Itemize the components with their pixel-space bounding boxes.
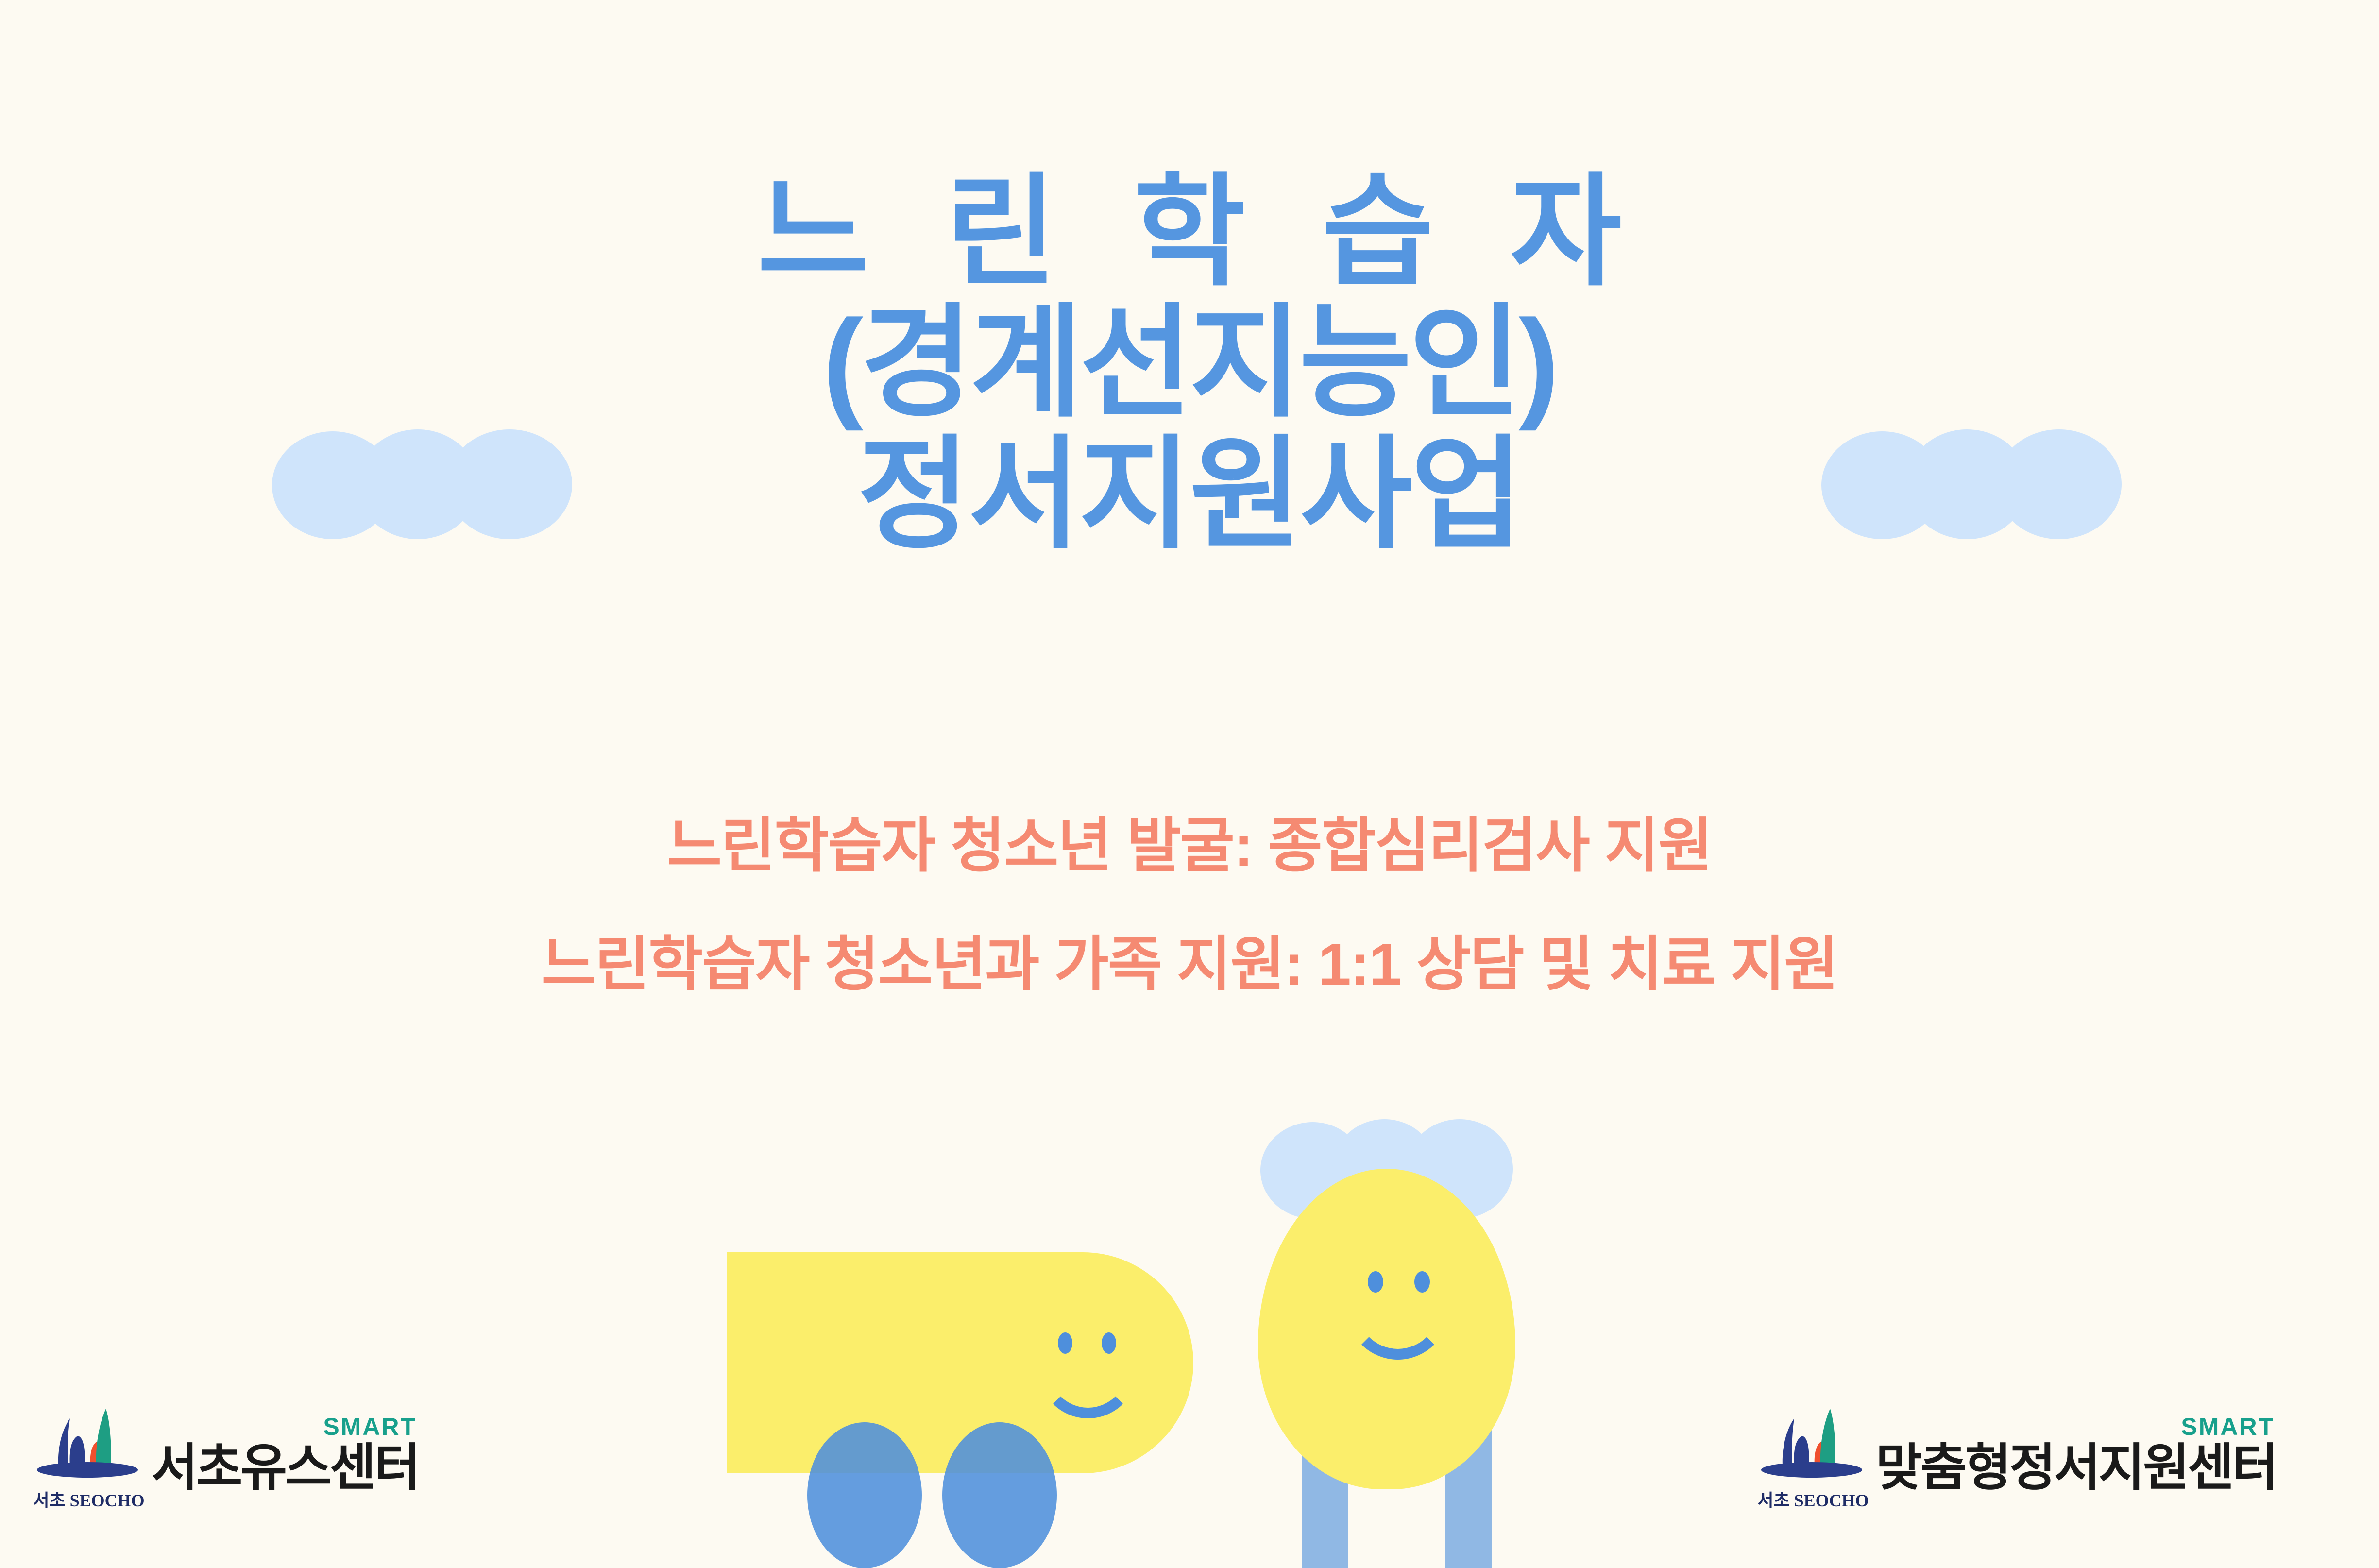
logo-customized-emotional-support-center: 서초 SEOCHO SMART 맞춤형정서지원센터	[1757, 1398, 2277, 1510]
seocho-emblem-icon: 서초 SEOCHO	[33, 1398, 145, 1510]
logo-right-smart-label: SMART	[2181, 1415, 2275, 1439]
logo-right-name: 맞춤형정서지원센터	[1876, 1443, 2277, 1493]
emblem-caption: 서초 SEOCHO	[1757, 1486, 1869, 1512]
emblem-caption: 서초 SEOCHO	[33, 1486, 145, 1512]
logo-seocho-youth-center: 서초 SEOCHO SMART 서초유스센터	[33, 1398, 419, 1510]
block-character-eye-left-icon	[1058, 1332, 1072, 1354]
block-character-foot-right	[942, 1422, 1057, 1568]
seocho-emblem-icon: 서초 SEOCHO	[1757, 1398, 1869, 1510]
logo-left-name: 서초유스센터	[152, 1443, 419, 1493]
logo-right-text: SMART 맞춤형정서지원센터	[1876, 1415, 2277, 1493]
logo-left-text: SMART 서초유스센터	[152, 1415, 419, 1493]
poster-subtitles: 느린학습자 청소년 발굴: 종합심리검사 지원 느린학습자 청소년과 가족 지원…	[0, 816, 2379, 994]
block-character-eye-right-icon	[1102, 1332, 1116, 1354]
block-character-foot-left	[807, 1422, 922, 1568]
headline-line-3: 정서지원사업	[0, 423, 2379, 567]
standing-character-eye-left-icon	[1368, 1271, 1383, 1293]
logo-left-smart-label: SMART	[323, 1415, 417, 1439]
poster-canvas: 느 린 학 습 자 (경계선지능인) 정서지원사업 느린학습자 청소년 발굴: …	[0, 0, 2379, 1568]
poster-headline: 느 린 학 습 자 (경계선지능인) 정서지원사업	[0, 160, 2379, 567]
subtitle-line-2: 느린학습자 청소년과 가족 지원: 1:1 상담 및 치료 지원	[0, 935, 2379, 994]
headline-line-1: 느 린 학 습 자	[0, 160, 2379, 304]
standing-character-eye-right-icon	[1414, 1271, 1430, 1293]
subtitle-line-1: 느린학습자 청소년 발굴: 종합심리검사 지원	[0, 816, 2379, 875]
headline-line-2: (경계선지능인)	[0, 291, 2379, 435]
